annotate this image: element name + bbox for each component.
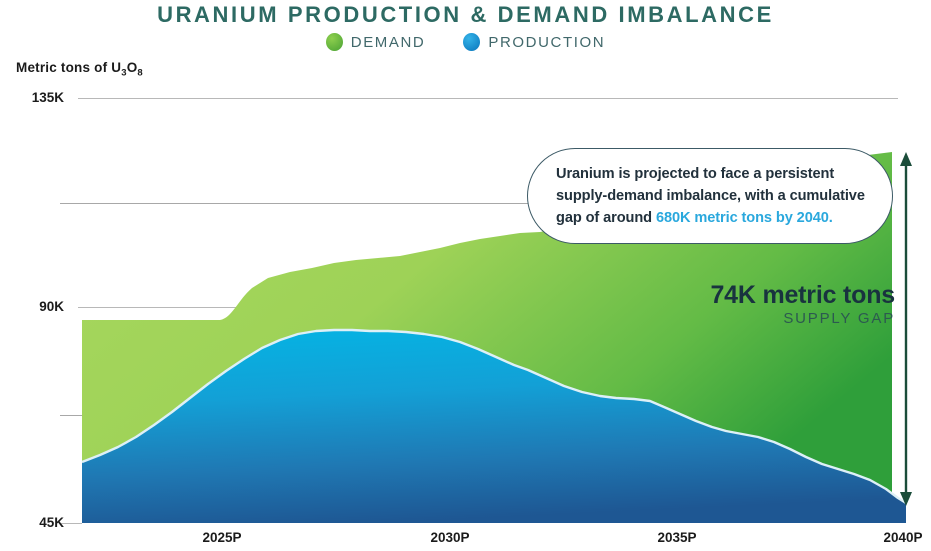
supply-gap-value: 74K metric tons — [710, 281, 895, 309]
supply-gap-caption: SUPPLY GAP — [710, 309, 895, 329]
chart-plot-area — [0, 0, 931, 551]
supply-gap-arrow-icon — [900, 152, 912, 506]
insight-line-3-prefix: gap of around — [556, 210, 656, 226]
insight-callout: Uranium is projected to face a persisten… — [527, 148, 893, 244]
insight-line-3-highlight: 680K metric tons by 2040. — [656, 210, 833, 226]
insight-line-1: Uranium is projected to face a persisten… — [556, 166, 834, 182]
supply-gap-annotation: 74K metric tons SUPPLY GAP — [710, 281, 895, 329]
insight-line-2: supply-demand imbalance, with a cumulati… — [556, 188, 865, 204]
insight-callout-text: Uranium is projected to face a persisten… — [528, 163, 891, 229]
chart-root: URANIUM PRODUCTION & DEMAND IMBALANCE DE… — [0, 0, 931, 551]
